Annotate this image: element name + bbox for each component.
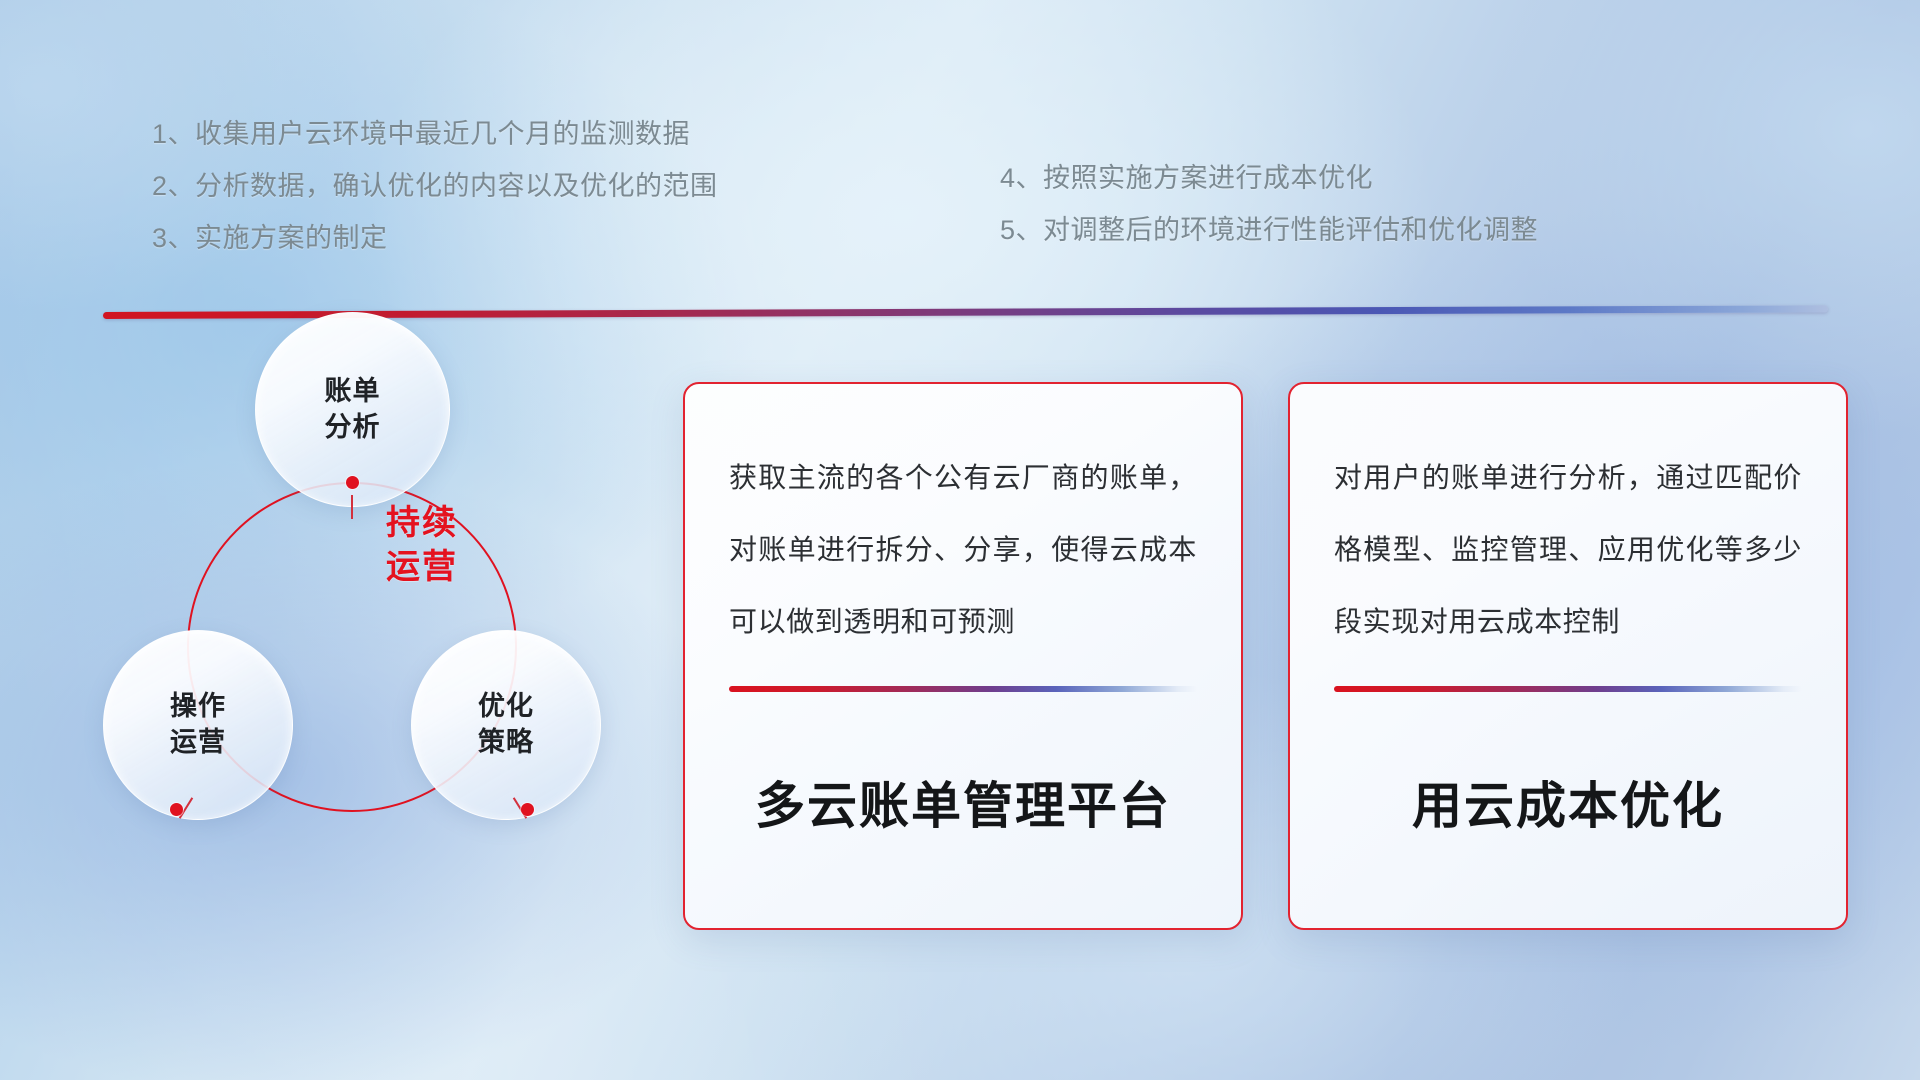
feature-card-2-title: 用云成本优化 bbox=[1334, 766, 1802, 838]
steps-list-left: 1、收集用户云环境中最近几个月的监测数据 2、分析数据，确认优化的内容以及优化的… bbox=[152, 108, 718, 264]
feature-card-multi-cloud-billing-platform[interactable]: 获取主流的各个公有云厂商的账单，对账单进行拆分、分享，使得云成本可以做到透明和可… bbox=[683, 382, 1243, 930]
venn-node-operation-running[interactable]: 操作 运营 bbox=[103, 630, 293, 820]
venn-node-optimization-strategy[interactable]: 优化 策略 bbox=[411, 630, 601, 820]
feature-card-1-body: 获取主流的各个公有云厂商的账单，对账单进行拆分、分享，使得云成本可以做到透明和可… bbox=[729, 442, 1197, 658]
venn-center-label: 持续 运营 bbox=[347, 502, 497, 589]
step-item-3: 3、实施方案的制定 bbox=[152, 212, 718, 264]
step-item-1: 1、收集用户云环境中最近几个月的监测数据 bbox=[152, 108, 718, 160]
feature-card-2-rule bbox=[1334, 686, 1802, 692]
venn-node-optimization-strategy-label: 优化 策略 bbox=[478, 689, 534, 760]
continuous-operation-diagram: 账单 分析 操作 运营 优化 策略 持续 运营 bbox=[95, 330, 615, 930]
feature-card-1-title: 多云账单管理平台 bbox=[729, 766, 1197, 838]
feature-card-1-rule bbox=[729, 686, 1197, 692]
step-item-2: 2、分析数据，确认优化的内容以及优化的范围 bbox=[152, 160, 718, 212]
venn-dot-top bbox=[346, 476, 359, 489]
feature-card-cloud-cost-optimization[interactable]: 对用户的账单进行分析，通过匹配价格模型、监控管理、应用优化等多少段实现对用云成本… bbox=[1288, 382, 1848, 930]
step-item-4: 4、按照实施方案进行成本优化 bbox=[1000, 152, 1538, 204]
venn-node-billing-analysis-label: 账单 分析 bbox=[325, 374, 381, 445]
venn-dot-bottom-right bbox=[521, 803, 534, 816]
venn-dot-bottom-left bbox=[170, 803, 183, 816]
step-item-5: 5、对调整后的环境进行性能评估和优化调整 bbox=[1000, 204, 1538, 256]
slide-canvas: 1、收集用户云环境中最近几个月的监测数据 2、分析数据，确认优化的内容以及优化的… bbox=[0, 0, 1920, 1080]
venn-node-operation-running-label: 操作 运营 bbox=[170, 689, 226, 760]
steps-list-right: 4、按照实施方案进行成本优化 5、对调整后的环境进行性能评估和优化调整 bbox=[1000, 152, 1538, 256]
feature-card-2-body: 对用户的账单进行分析，通过匹配价格模型、监控管理、应用优化等多少段实现对用云成本… bbox=[1334, 442, 1802, 658]
